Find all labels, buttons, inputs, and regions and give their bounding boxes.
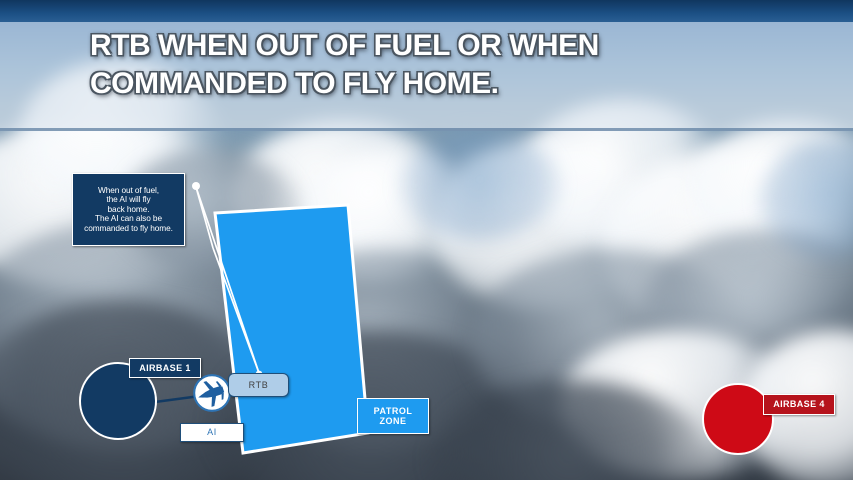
airbase-1-label[interactable]: AIRBASE 1 bbox=[129, 358, 201, 378]
airbase-4-label[interactable]: AIRBASE 4 bbox=[763, 394, 835, 415]
ai-label[interactable]: AI bbox=[180, 423, 244, 442]
callout-box: When out of fuel, the AI will fly back h… bbox=[72, 173, 185, 246]
patrol-zone-polygon[interactable] bbox=[215, 205, 368, 453]
callout-leader-line-b bbox=[196, 187, 213, 248]
fighter-jet-icon[interactable] bbox=[193, 374, 231, 412]
patrol-zone-label[interactable]: PATROL ZONE bbox=[357, 398, 429, 434]
callout-anchor-dot bbox=[192, 182, 200, 190]
rtb-label[interactable]: RTB bbox=[228, 373, 289, 397]
slide-canvas: RTB WHEN OUT OF FUEL OR WHEN COMMANDED T… bbox=[0, 0, 853, 480]
